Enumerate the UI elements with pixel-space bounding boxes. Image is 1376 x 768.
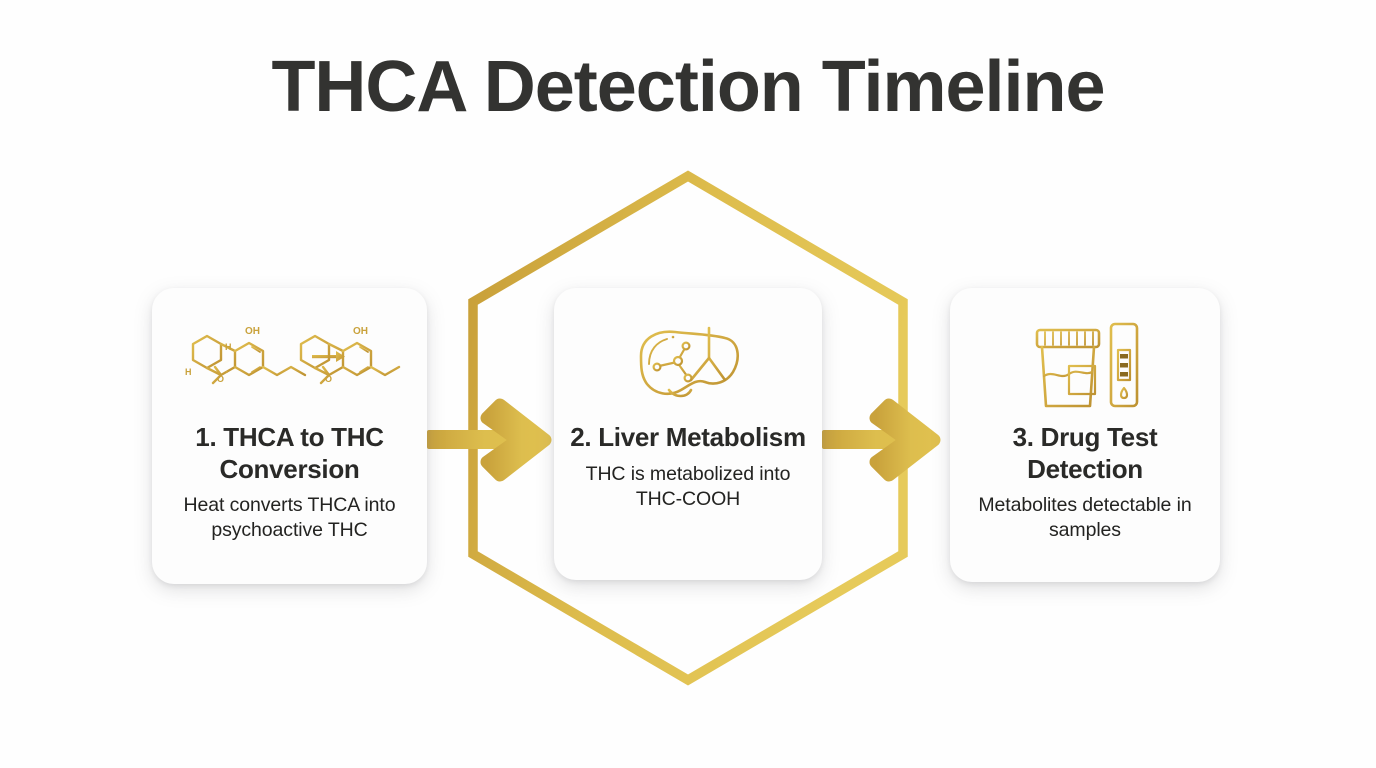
svg-text:O: O (217, 374, 224, 384)
step-card-3-description: Metabolites detectable in samples (964, 493, 1206, 543)
svg-text:H: H (225, 342, 232, 352)
step-card-1-title: 1. THCA to THC Conversion (166, 422, 413, 485)
step-card-2-description: THC is metabolized into THC-COOH (568, 462, 808, 512)
svg-text:H: H (185, 367, 192, 377)
step-card-1-description: Heat converts THCA into psychoactive THC (166, 493, 413, 543)
step-card-2-title: 2. Liver Metabolism (568, 422, 808, 454)
svg-text:OH: OH (245, 326, 260, 337)
liver-molecule-icon (629, 314, 747, 418)
molecule-conversion-icon: OH H H O (175, 314, 405, 418)
svg-text:OH: OH (353, 326, 368, 337)
step-card-1[interactable]: OH H H O (152, 288, 427, 584)
arrow-step2-to-step3 (822, 405, 934, 475)
drug-test-cup-icon (1027, 314, 1143, 418)
page-title: THCA Detection Timeline (0, 48, 1376, 127)
step-card-3-title: 3. Drug Test Detection (964, 422, 1206, 485)
step-card-2[interactable]: 2. Liver Metabolism THC is metabolized i… (554, 288, 822, 580)
step-card-3[interactable]: 3. Drug Test Detection Metabolites detec… (950, 288, 1220, 582)
arrow-step1-to-step2 (427, 405, 545, 475)
svg-text:O: O (325, 374, 332, 384)
infographic-canvas: THCA Detection Timeline (0, 0, 1376, 768)
